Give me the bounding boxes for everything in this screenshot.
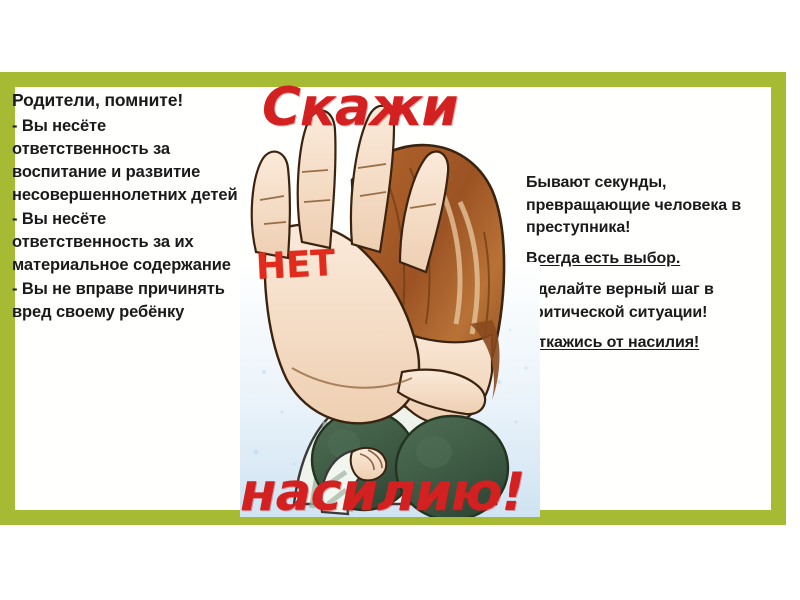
- palm-no-text: НЕТ: [255, 243, 336, 288]
- left-heading: Родители, помните!: [12, 88, 238, 113]
- right-text-block: Бывают секунды, превращающие человека в …: [526, 172, 776, 363]
- left-paragraph-1: - Вы несёте ответственность за воспитани…: [12, 115, 238, 207]
- left-paragraph-2: - Вы несёте ответственность за их матери…: [12, 208, 238, 277]
- poster-illustration: Скажи НЕТ насилию!: [234, 72, 546, 527]
- right-line-3: Сделайте верный шаг в критической ситуац…: [526, 279, 776, 324]
- right-line-2: Всегда есть выбор.: [526, 248, 776, 271]
- left-text-block: Родители, помните! - Вы несёте ответстве…: [12, 88, 238, 324]
- right-line-1: Бывают секунды, превращающие человека в …: [526, 172, 776, 240]
- poster-headline-top: Скажи: [262, 77, 458, 138]
- poster-artwork: [234, 72, 546, 527]
- right-line-4: Откажись от насилия!: [526, 332, 776, 355]
- poster-headline-bottom: насилию!: [240, 462, 525, 523]
- left-paragraph-3: - Вы не вправе причинять вред своему реб…: [12, 278, 238, 324]
